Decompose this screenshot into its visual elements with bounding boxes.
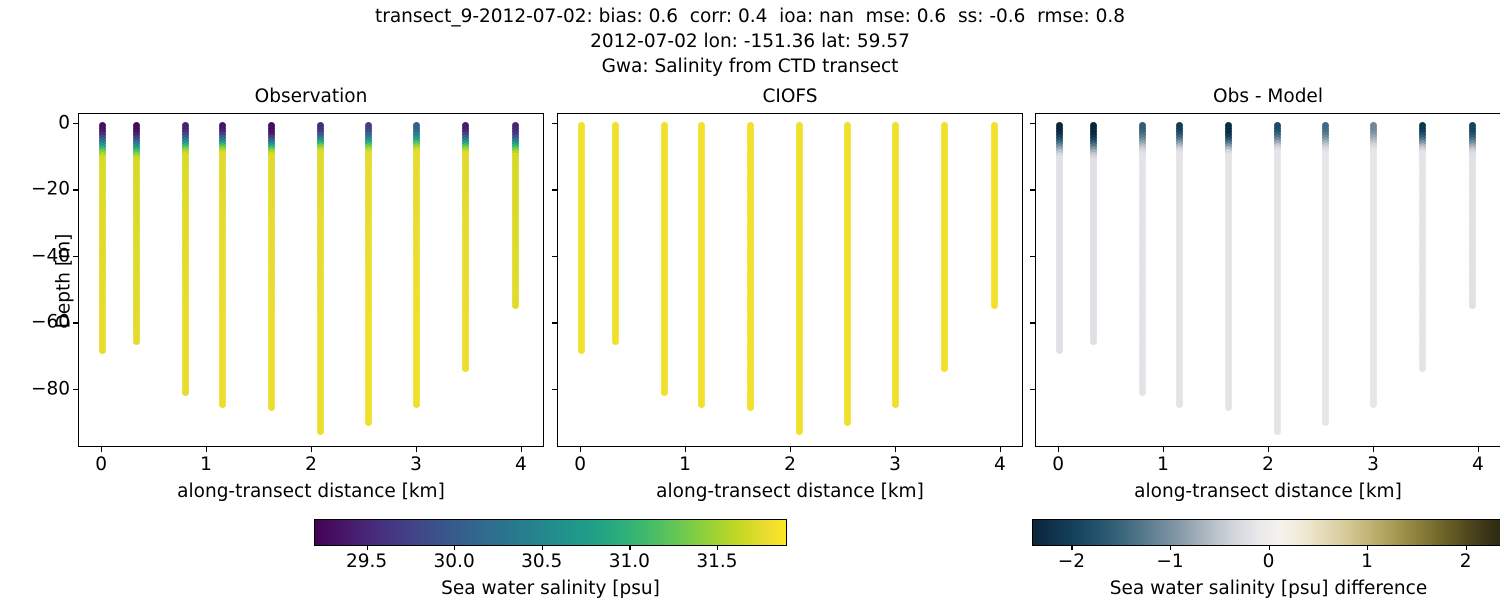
axes-obs-minus-model	[1035, 113, 1500, 447]
xtick	[416, 447, 417, 452]
suptitle-line-3: Gwa: Salinity from CTD transect	[0, 54, 1500, 79]
colorbar-tick	[629, 546, 630, 550]
xtick-label: 4	[1472, 454, 1484, 475]
panel-observation: Observation 012340−20−40−60−80 along-tra…	[78, 113, 544, 447]
xtick	[1058, 447, 1059, 452]
panel-ciofs: CIOFS 01234 along-transect distance [km]	[557, 113, 1023, 447]
difference-colorbar-gradient	[1032, 519, 1500, 546]
ytick	[1030, 123, 1035, 124]
xtick-label: 0	[95, 454, 107, 475]
ytick-label: 0	[58, 112, 70, 133]
ytick	[1030, 189, 1035, 190]
ytick	[1030, 389, 1035, 390]
colorbar-tick-label: −1	[1156, 551, 1183, 572]
colorbar-tick	[717, 546, 718, 550]
xtick	[311, 447, 312, 452]
ytick	[1030, 256, 1035, 257]
xtick-label: 1	[679, 454, 691, 475]
xtick-label: 2	[784, 454, 796, 475]
xtick	[1373, 447, 1374, 452]
ytick	[552, 322, 557, 323]
xtick-label: 4	[994, 454, 1006, 475]
ytick	[552, 389, 557, 390]
scatter-plot-observation	[79, 114, 543, 446]
ytick-label: −80	[31, 378, 70, 399]
panel-title-ciofs: CIOFS	[557, 86, 1023, 107]
axes-observation	[78, 113, 544, 447]
xaxis-label-observation: along-transect distance [km]	[78, 481, 544, 502]
figure-suptitle: transect_9-2012-07-02: bias: 0.6 corr: 0…	[0, 4, 1500, 79]
xtick	[101, 447, 102, 452]
panel-obs-minus-model: Obs - Model 01234 along-transect distanc…	[1035, 113, 1500, 447]
salinity-colorbar-label: Sea water salinity [psu]	[314, 578, 787, 599]
xtick-label: 0	[574, 454, 586, 475]
ytick	[73, 189, 78, 190]
scatter-plot-obs-minus-model	[1036, 114, 1500, 446]
yaxis-label: Depth [m]	[54, 234, 75, 329]
ytick	[73, 123, 78, 124]
colorbar-tick	[367, 546, 368, 550]
colorbar-tick	[1269, 546, 1270, 550]
colorbar-tick	[454, 546, 455, 550]
panel-title-observation: Observation	[78, 86, 544, 107]
colorbar-tick	[1170, 546, 1171, 550]
colorbar-tick-label: 30.0	[434, 551, 475, 572]
xtick-label: 3	[410, 454, 422, 475]
ytick	[1030, 322, 1035, 323]
xtick	[1163, 447, 1164, 452]
xtick	[790, 447, 791, 452]
colorbar-tick-label: 29.5	[346, 551, 387, 572]
salinity-colorbar-gradient	[314, 519, 787, 546]
xtick-label: 2	[1262, 454, 1274, 475]
colorbar-tick-label: 31.5	[696, 551, 737, 572]
xtick-label: 4	[515, 454, 527, 475]
ytick	[73, 389, 78, 390]
xtick	[1000, 447, 1001, 452]
xtick-label: 3	[1367, 454, 1379, 475]
axes-ciofs	[557, 113, 1023, 447]
colorbar-tick-label: 1	[1361, 551, 1373, 572]
xtick	[521, 447, 522, 452]
xtick-label: 3	[889, 454, 901, 475]
xaxis-label-ciofs: along-transect distance [km]	[557, 481, 1023, 502]
xtick	[580, 447, 581, 452]
ytick	[552, 123, 557, 124]
colorbar-tick	[1367, 546, 1368, 550]
ytick	[552, 189, 557, 190]
xtick	[206, 447, 207, 452]
xtick	[685, 447, 686, 452]
colorbar-tick-label: −2	[1058, 551, 1085, 572]
xaxis-label-obs-minus-model: along-transect distance [km]	[1035, 481, 1500, 502]
xtick	[895, 447, 896, 452]
scatter-plot-ciofs	[558, 114, 1022, 446]
ytick	[552, 256, 557, 257]
xtick	[1268, 447, 1269, 452]
colorbar-tick-label: 2	[1460, 551, 1472, 572]
colorbar-tick-label: 30.5	[521, 551, 562, 572]
xtick-label: 2	[305, 454, 317, 475]
suptitle-line-2: 2012-07-02 lon: -151.36 lat: 59.57	[0, 29, 1500, 54]
colorbar-tick-label: 0	[1263, 551, 1275, 572]
colorbar-tick	[1466, 546, 1467, 550]
difference-colorbar-label: Sea water salinity [psu] difference	[1032, 578, 1500, 599]
xtick	[1478, 447, 1479, 452]
colorbar-tick	[542, 546, 543, 550]
colorbar-tick	[1071, 546, 1072, 550]
ytick-label: −20	[31, 179, 70, 200]
panel-title-obs-minus-model: Obs - Model	[1035, 86, 1500, 107]
colorbar-tick-label: 31.0	[609, 551, 650, 572]
xtick-label: 0	[1052, 454, 1064, 475]
xtick-label: 1	[200, 454, 212, 475]
suptitle-line-1: transect_9-2012-07-02: bias: 0.6 corr: 0…	[0, 4, 1500, 29]
xtick-label: 1	[1157, 454, 1169, 475]
